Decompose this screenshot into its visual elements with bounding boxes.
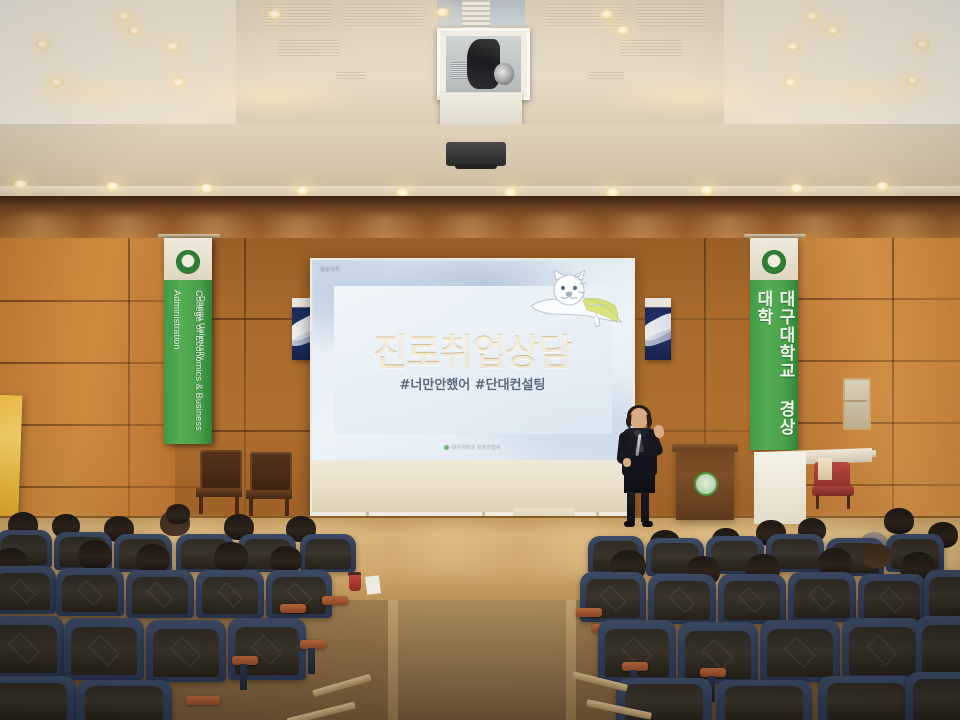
seat-pattern xyxy=(171,637,202,668)
ceiling-projector-housing xyxy=(437,28,530,100)
seat-cushion xyxy=(202,577,258,614)
ceiling-vent-grille xyxy=(588,72,624,80)
handout-paper xyxy=(365,575,381,595)
seat-cushion xyxy=(0,683,67,720)
auditorium-seat xyxy=(760,620,840,682)
presenter-hand-holding-mic xyxy=(623,458,631,467)
ceiling-downlight xyxy=(50,78,63,87)
auditorium-seat xyxy=(842,618,922,680)
auditorium-seat xyxy=(196,570,264,618)
wall-niche-divider xyxy=(843,400,867,402)
ceiling-downlight xyxy=(616,26,629,35)
seat-cushion xyxy=(153,629,219,677)
seat-cushion xyxy=(929,577,960,616)
wall-panel-seam xyxy=(770,360,960,362)
ceiling-speaker-base xyxy=(455,164,497,169)
audience-head xyxy=(862,544,892,568)
light-wash xyxy=(600,76,770,116)
banner-header xyxy=(164,238,212,280)
auditorium-seat xyxy=(718,574,786,624)
seat-armrest xyxy=(322,596,348,605)
banner-right-text: 대구대학교 경상대학 xyxy=(750,284,798,446)
aisle-step-rail xyxy=(286,702,356,720)
podium-emblem-icon xyxy=(694,472,718,496)
seat-cushion xyxy=(849,627,915,675)
seat-pattern xyxy=(600,585,626,611)
audience-head xyxy=(78,540,112,570)
slide-title: 진로취업상담 xyxy=(312,322,633,376)
ceiling-downlight xyxy=(128,26,141,35)
coffee-cup xyxy=(349,575,361,591)
seat-cushion xyxy=(305,539,351,569)
auditorium-seat xyxy=(716,680,812,720)
ceiling-vent-grille xyxy=(346,4,422,28)
light-wash xyxy=(190,76,360,116)
ceiling-downlight xyxy=(118,12,131,21)
seat-cushion xyxy=(71,627,137,675)
auditorium-seat xyxy=(788,572,856,622)
auditorium-photo: College of Economics & Business Administ… xyxy=(0,0,960,720)
wall-panel-seam xyxy=(0,486,200,488)
seat-cushion xyxy=(794,579,850,618)
seat-cushion xyxy=(132,577,188,614)
auditorium-seat xyxy=(0,566,56,614)
university-emblem-icon xyxy=(176,250,200,274)
banner-left-green: College of Economics & Business Administ… xyxy=(164,238,212,444)
seat-armrest xyxy=(280,604,306,613)
ceiling-downlight xyxy=(876,182,889,191)
ceiling xyxy=(0,0,960,200)
ceiling-downlight xyxy=(600,10,613,19)
wall-panel-seam xyxy=(128,238,130,528)
seat-cushion xyxy=(767,629,833,677)
ceiling-downlight xyxy=(786,42,799,51)
ceiling-speaker xyxy=(446,142,506,166)
ceiling-vent-grille xyxy=(278,40,340,56)
armrest-post xyxy=(308,648,315,674)
ceiling-downlight xyxy=(166,42,179,51)
seat-cushion xyxy=(85,686,164,720)
ceiling-downlight xyxy=(916,40,929,49)
seat-pattern xyxy=(9,633,40,664)
banner-header xyxy=(750,238,798,280)
seat-cushion xyxy=(725,686,804,720)
ceiling-vent-grille xyxy=(636,4,706,26)
banner-left-text: College of Economics & Business Administ… xyxy=(164,284,212,440)
ceiling-downlight xyxy=(106,182,119,191)
ceiling-downlight xyxy=(784,78,797,87)
projector-housing-interior xyxy=(446,36,521,92)
auditorium-seat xyxy=(146,620,226,682)
seat-pattern xyxy=(147,582,173,608)
wall-panel-seam xyxy=(770,298,960,300)
auditorium-seat xyxy=(924,570,960,620)
auditorium-seat xyxy=(0,616,64,678)
seat-pattern xyxy=(867,635,898,666)
seat-pattern xyxy=(703,639,734,670)
seat-cushion xyxy=(827,683,906,720)
wall-niche xyxy=(843,378,871,430)
ceiling-downlight xyxy=(700,186,713,195)
ceiling-downlight xyxy=(826,26,839,35)
auditorium-seat xyxy=(858,574,926,624)
auditorium-seat xyxy=(64,618,144,680)
seat-cushion xyxy=(0,573,50,610)
ceiling-downlight xyxy=(790,184,803,193)
seat-cushion xyxy=(62,575,118,612)
seat-pattern xyxy=(669,587,695,613)
auditorium-seat xyxy=(76,680,172,720)
auditorium-seat xyxy=(818,676,914,720)
audience-head xyxy=(884,508,914,534)
auditorium-seat xyxy=(906,672,960,720)
seat-cushion xyxy=(913,679,960,720)
seat-pattern xyxy=(785,637,816,668)
projector-body xyxy=(467,39,500,88)
presenter-skirt xyxy=(624,471,655,493)
projector-lens xyxy=(494,63,514,85)
slide-subtitle: #너만안했어 #단대컨설팅 xyxy=(312,374,633,393)
auditorium-seat xyxy=(598,620,676,682)
seat-cushion xyxy=(864,581,920,620)
university-emblem-icon xyxy=(762,250,786,274)
slide-footer-text: 대구대학교 진로취업처 xyxy=(451,445,501,451)
ceiling-downlight xyxy=(172,78,185,87)
document-box xyxy=(818,458,832,480)
ceiling-downlight xyxy=(906,76,919,85)
seat-armrest xyxy=(576,608,602,617)
audience-head xyxy=(166,504,190,524)
ceiling-downlight xyxy=(200,184,213,193)
projector-mast xyxy=(462,0,490,30)
seat-armrest xyxy=(186,696,220,705)
presenter-head xyxy=(630,408,648,429)
footer-logo-icon xyxy=(444,445,449,450)
slide-corner-label: 경상대학 xyxy=(320,266,340,273)
seat-pattern xyxy=(809,585,835,611)
auditorium-seat xyxy=(648,574,716,624)
light-wash xyxy=(790,72,950,112)
armrest-post xyxy=(240,664,247,690)
ceiling-downlight xyxy=(806,12,819,21)
seat-cushion xyxy=(654,581,710,620)
projection-screen: 경상대학 진로취업상담 #너만안했어 #단대컨설팅 대구대학교 진로취업처 xyxy=(312,260,633,460)
wall-panel-seam xyxy=(892,238,894,528)
wood-wall-left-panel xyxy=(0,238,175,528)
auditorium-seat xyxy=(0,676,76,720)
seat-pattern xyxy=(217,582,243,608)
auditorium-seat xyxy=(56,568,124,616)
seat-cushion xyxy=(0,625,57,673)
seat-pattern xyxy=(89,635,120,666)
aisle-step-rail xyxy=(312,674,372,697)
banner-navy-right xyxy=(645,298,671,360)
auditorium-seat xyxy=(300,534,356,572)
ceiling-downlight xyxy=(36,40,49,49)
ceiling-vent-grille xyxy=(336,72,366,79)
ceiling-vent-grille xyxy=(620,40,682,56)
audience-head xyxy=(214,542,248,572)
seat-pattern xyxy=(739,587,765,613)
seat-pattern xyxy=(10,578,35,603)
audience-area xyxy=(0,500,960,720)
ceiling-downlight xyxy=(14,180,27,189)
ceiling-downlight xyxy=(436,8,449,17)
slide-footer: 대구대학교 진로취업처 xyxy=(312,444,633,451)
seat-pattern xyxy=(77,580,103,606)
seat-cushion xyxy=(724,581,780,620)
seat-cushion xyxy=(922,625,960,673)
light-wash xyxy=(20,72,170,112)
seat-pattern xyxy=(879,587,905,613)
auditorium-seat xyxy=(916,616,960,678)
banner-right-green: 대구대학교 경상대학 xyxy=(750,238,798,450)
auditorium-seat xyxy=(126,570,194,618)
ceiling-downlight xyxy=(268,10,281,19)
ceiling-downlight xyxy=(296,186,309,195)
